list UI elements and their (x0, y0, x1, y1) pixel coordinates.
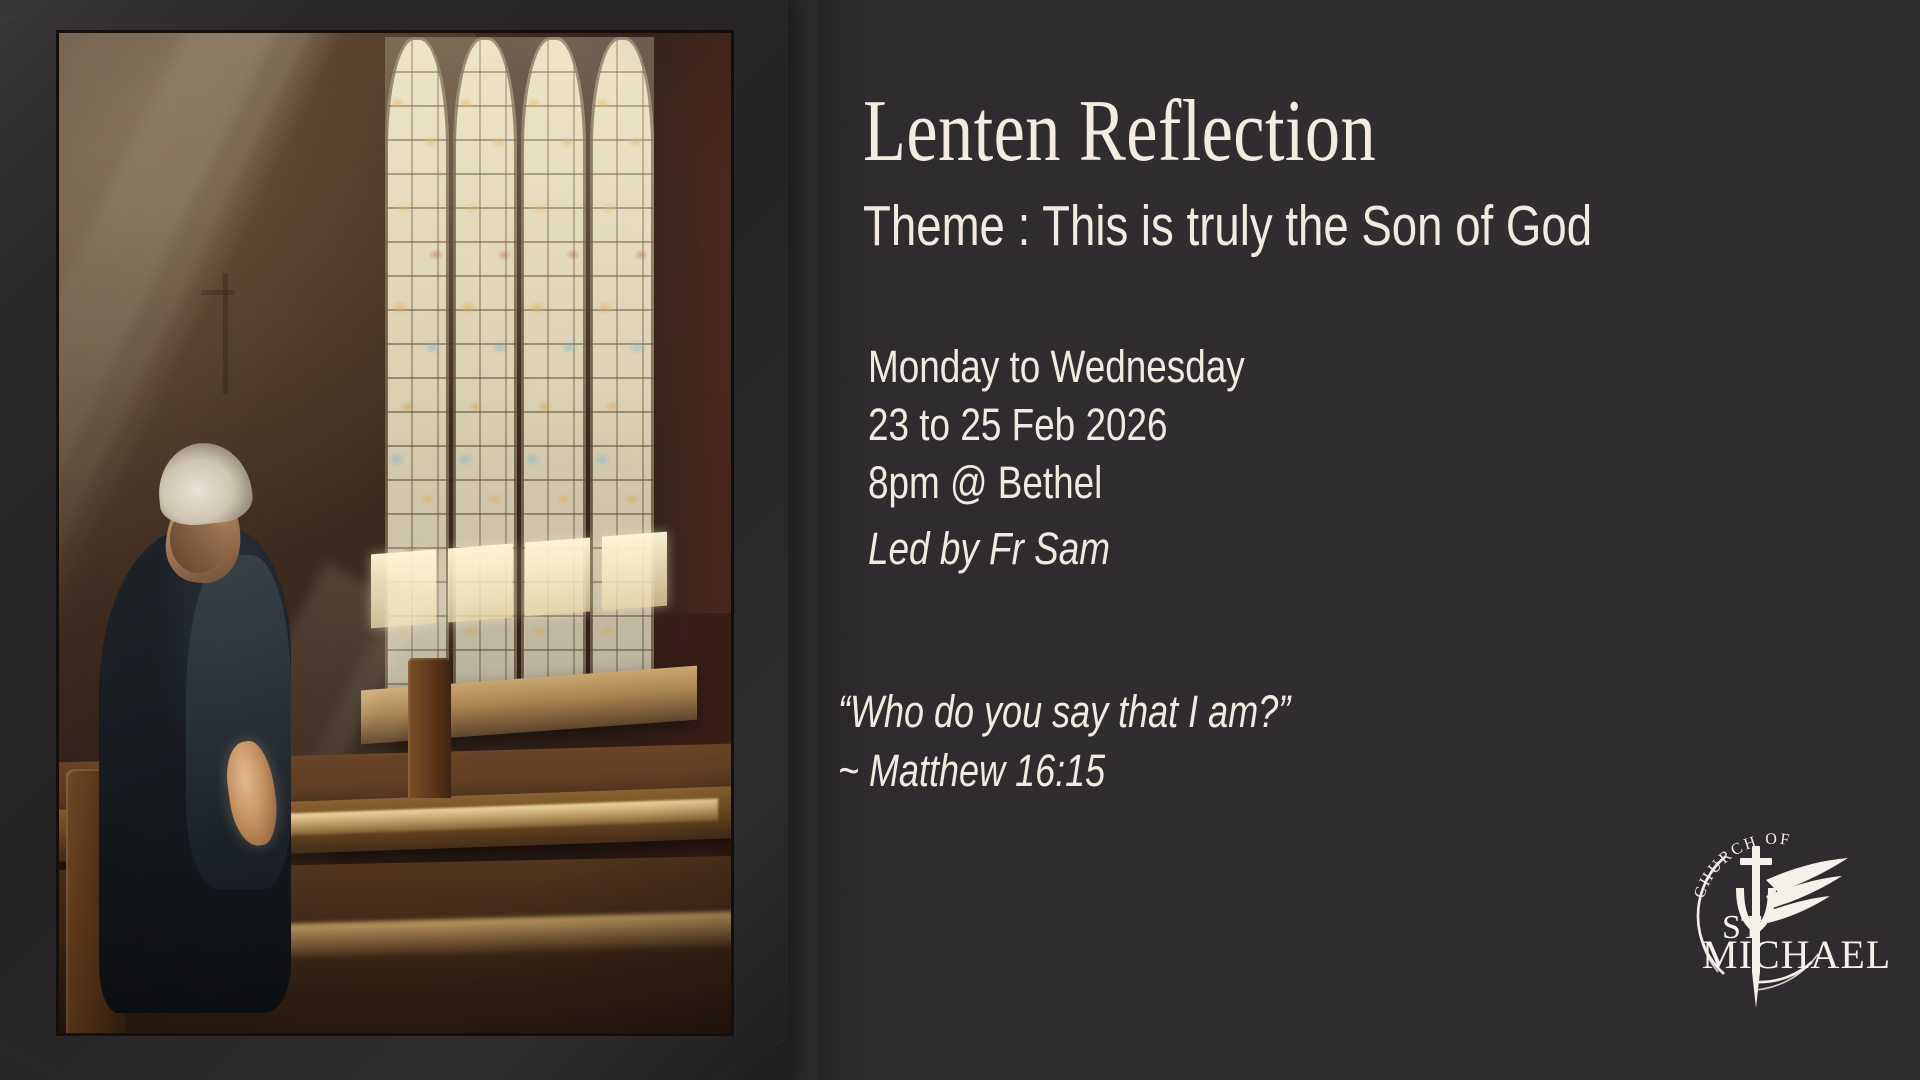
scripture-reference: ~ Matthew 16:15 (838, 741, 1290, 800)
light-patch (525, 538, 590, 617)
detail-time-venue: 8pm @ Bethel (868, 454, 1245, 512)
church-logo: CHURCH OF (1666, 822, 1896, 1018)
light-patch (448, 543, 513, 622)
detail-dates: 23 to 25 Feb 2026 (868, 396, 1245, 454)
page-title: Lenten Reflection (863, 88, 1376, 176)
pew-post (408, 658, 451, 798)
content-pane: Lenten Reflection Theme : This is truly … (818, 0, 1920, 1080)
picture-frame (0, 0, 788, 1080)
scripture-text: “Who do you say that I am?” (838, 682, 1290, 741)
man-hair (154, 438, 255, 528)
theme-subtitle: Theme : This is truly the Son of God (863, 198, 1592, 255)
scripture-quote: “Who do you say that I am?” ~ Matthew 16… (838, 682, 1290, 801)
artwork-pane (0, 0, 818, 1080)
event-details: Monday to Wednesday 23 to 25 Feb 2026 8p… (868, 338, 1245, 578)
frame-miter-top-right (698, 0, 788, 30)
wall-cross-crossbar (201, 290, 235, 295)
frame-miter-top-left (0, 0, 78, 30)
praying-man (99, 443, 408, 1033)
detail-leader: Led by Fr Sam (868, 512, 1245, 578)
slide-root: Lenten Reflection Theme : This is truly … (0, 0, 1920, 1080)
painting-canvas (59, 33, 731, 1033)
frame-miter-bottom-left (0, 1038, 98, 1080)
detail-days: Monday to Wednesday (868, 338, 1245, 396)
frame-miter-bottom-right (678, 1038, 788, 1080)
man-shoulder (186, 555, 291, 890)
wing-icon (1766, 858, 1848, 923)
light-patch (602, 532, 667, 611)
logo-name: MICHAEL (1702, 932, 1891, 977)
